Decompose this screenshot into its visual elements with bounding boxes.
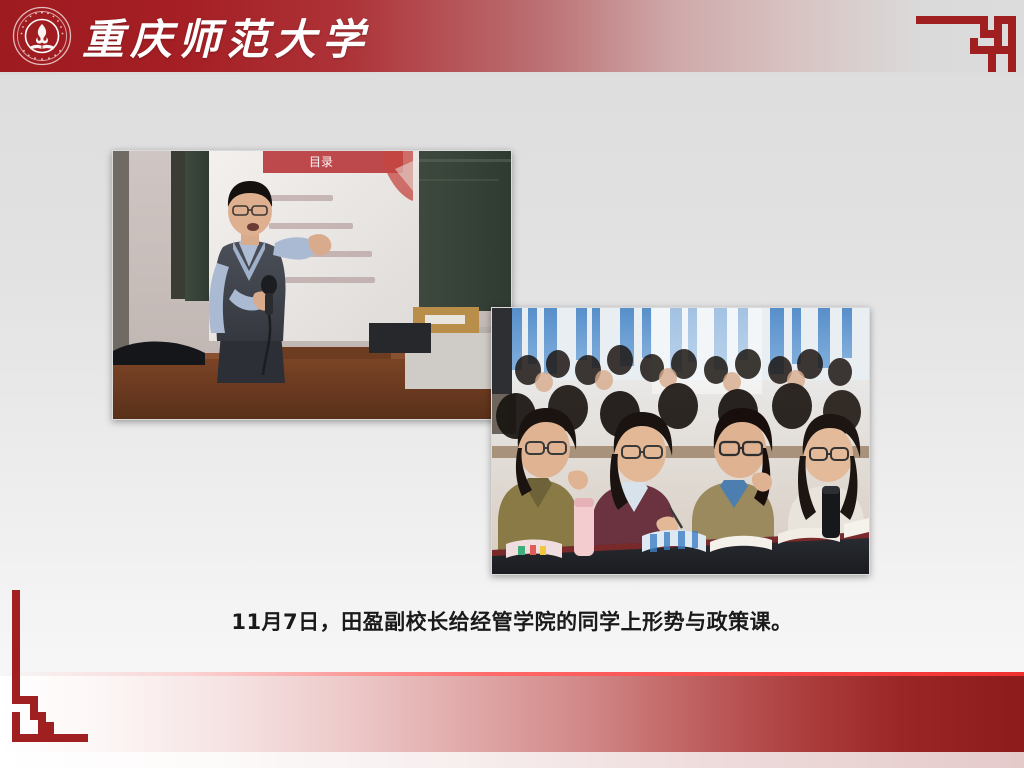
bottom-gradient-band bbox=[0, 676, 1024, 752]
slide-header: 重庆师范大学 bbox=[0, 0, 1024, 72]
chinese-corner-ornament-icon bbox=[6, 590, 114, 750]
photo-lecturer: 目录 bbox=[112, 150, 512, 420]
svg-text:目录: 目录 bbox=[309, 155, 333, 169]
bottom-fade-strip bbox=[0, 752, 1024, 768]
slide-root: 重庆师范大学 bbox=[0, 0, 1024, 768]
header-underline bbox=[0, 72, 1024, 75]
slide-caption: 11月7日，田盈副校长给经管学院的同学上形势与政策课。 bbox=[0, 606, 1024, 636]
university-seal-icon bbox=[12, 6, 72, 66]
photo-students bbox=[491, 307, 870, 575]
chinese-corner-ornament-icon bbox=[908, 8, 1016, 72]
university-name-title: 重庆师范大学 bbox=[82, 4, 370, 68]
